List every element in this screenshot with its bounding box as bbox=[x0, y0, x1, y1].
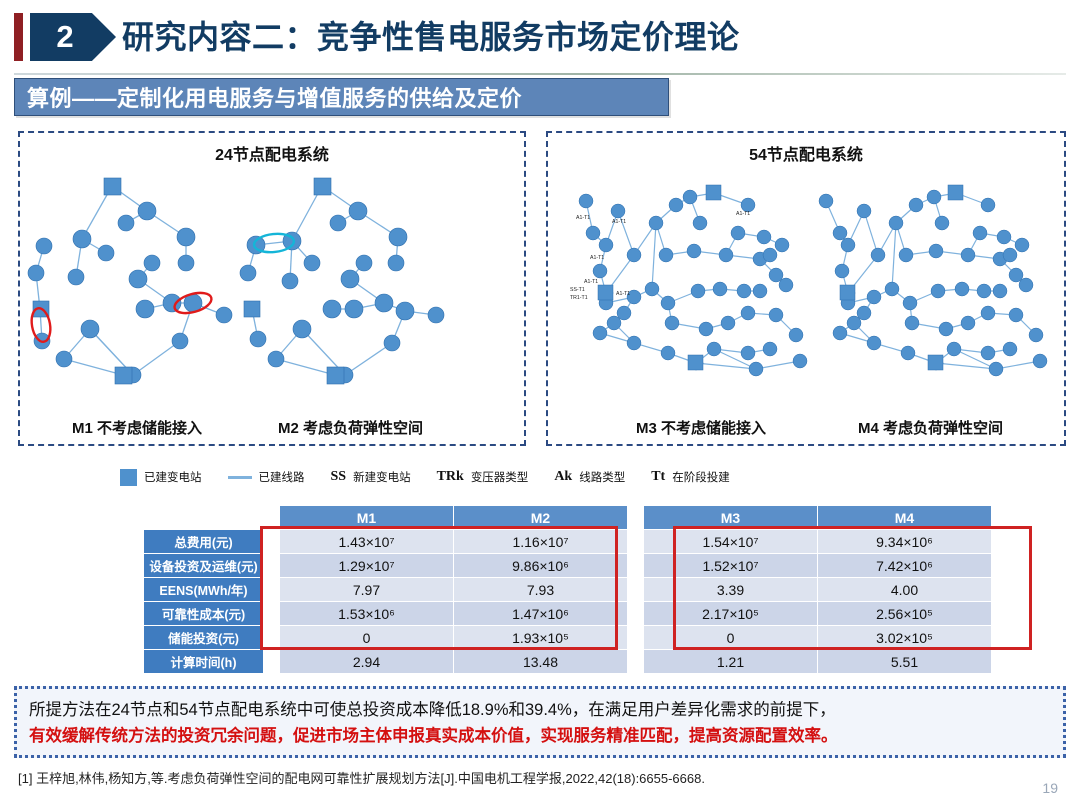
column-header-m4: M4 bbox=[818, 506, 992, 530]
legend-item-new-substation: SS 新建变电站 bbox=[331, 469, 411, 485]
trk-symbol: TRk bbox=[437, 469, 464, 485]
cell-m2-eens: 7.93 bbox=[454, 578, 628, 602]
slide-header: 2 研究内容二：竞争性售电服务市场定价理论 bbox=[0, 0, 1080, 72]
cell-m4-total-cost: 9.34×10⁶ bbox=[818, 530, 992, 554]
column-header-m1: M1 bbox=[280, 506, 454, 530]
cell-m3-total-cost: 1.54×10⁷ bbox=[644, 530, 818, 554]
table-gap-cell-mid bbox=[628, 506, 644, 530]
svg-text:A1-T1: A1-T1 bbox=[736, 211, 750, 217]
reference-citation: [1] 王梓旭,林伟,杨知方,等.考虑负荷弹性空间的配电网可靠性扩展规划方法[J… bbox=[18, 768, 705, 787]
svg-text:A1-T1: A1-T1 bbox=[612, 219, 626, 225]
cell-m4-compute-time: 5.51 bbox=[818, 650, 992, 674]
table-corner-cell bbox=[144, 506, 264, 530]
conclusion-line-2: 有效缓解传统方法的投资冗余问题，促进市场主体申报真实成本价值，实现服务精准匹配，… bbox=[29, 723, 1051, 749]
row-gap-mid bbox=[628, 650, 644, 674]
cell-m3-storage-invest: 0 bbox=[644, 626, 818, 650]
row-label-equipment-invest: 设备投资及运维(元) bbox=[144, 554, 264, 578]
conclusion-line-1: 所提方法在24节点和54节点配电系统中可使总投资成本降低18.9%和39.4%，… bbox=[29, 697, 1051, 723]
column-header-m2: M2 bbox=[454, 506, 628, 530]
row-gap bbox=[264, 530, 280, 554]
square-node-icon bbox=[120, 469, 137, 486]
panel-title-24node: 24节点配电系统 bbox=[20, 141, 524, 165]
table-row: EENS(MWh/年) 7.97 7.93 3.39 4.00 bbox=[144, 578, 992, 602]
network-graph-m3-m4: A1-T1 A1-T1 A1-T1 A1-T1 A1-T1 SS-T1 TR1-… bbox=[548, 163, 1064, 413]
legend-item-stage-build: Tt 在阶段投建 bbox=[651, 469, 730, 485]
legend-item-existing-substation: 已建变电站 bbox=[120, 469, 202, 486]
svg-text:A1-T1: A1-T1 bbox=[616, 291, 630, 297]
diagram-panel-24node: 24节点配电系统 bbox=[18, 131, 526, 446]
legend-label-existing-line: 已建线路 bbox=[259, 469, 305, 485]
cell-m2-total-cost: 1.16×10⁷ bbox=[454, 530, 628, 554]
cell-m1-compute-time: 2.94 bbox=[280, 650, 454, 674]
cell-m3-eens: 3.39 bbox=[644, 578, 818, 602]
table-gap-cell bbox=[264, 506, 280, 530]
table-row: 总费用(元) 1.43×10⁷ 1.16×10⁷ 1.54×10⁷ 9.34×1… bbox=[144, 530, 992, 554]
legend-item-line-type: Ak 线路类型 bbox=[554, 469, 625, 485]
legend-label-transformer-type: 变压器类型 bbox=[471, 469, 529, 485]
conclusion-box: 所提方法在24节点和54节点配电系统中可使总投资成本降低18.9%和39.4%，… bbox=[14, 686, 1066, 758]
cell-m4-eens: 4.00 bbox=[818, 578, 992, 602]
table-row: 设备投资及运维(元) 1.29×10⁷ 9.86×10⁶ 1.52×10⁷ 7.… bbox=[144, 554, 992, 578]
table-row: 储能投资(元) 0 1.93×10⁵ 0 3.02×10⁵ bbox=[144, 626, 992, 650]
row-label-storage-invest: 储能投资(元) bbox=[144, 626, 264, 650]
row-gap-mid bbox=[628, 578, 644, 602]
cell-m4-equipment-invest: 7.42×10⁶ bbox=[818, 554, 992, 578]
svg-text:A1-T1: A1-T1 bbox=[590, 255, 604, 261]
cell-m1-equipment-invest: 1.29×10⁷ bbox=[280, 554, 454, 578]
diagram-caption-m3: M3 不考虑储能接入 bbox=[636, 417, 766, 438]
header-red-accent-bar bbox=[14, 13, 23, 61]
cell-m4-reliability-cost: 2.56×10⁵ bbox=[818, 602, 992, 626]
header-divider bbox=[14, 73, 1066, 75]
cell-m1-storage-invest: 0 bbox=[280, 626, 454, 650]
subtitle-bar: 算例——定制化用电服务与增值服务的供给及定价 bbox=[14, 78, 669, 116]
cell-m2-reliability-cost: 1.47×10⁶ bbox=[454, 602, 628, 626]
diagram-panel-54node: 54节点配电系统 bbox=[546, 131, 1066, 446]
legend-item-existing-line: 已建线路 bbox=[228, 469, 305, 485]
column-header-m3: M3 bbox=[644, 506, 818, 530]
cell-m3-compute-time: 1.21 bbox=[644, 650, 818, 674]
cell-m2-compute-time: 13.48 bbox=[454, 650, 628, 674]
legend-item-transformer-type: TRk 变压器类型 bbox=[437, 469, 529, 485]
subtitle-text: 算例——定制化用电服务与增值服务的供给及定价 bbox=[15, 81, 522, 113]
cell-m4-storage-invest: 3.02×10⁵ bbox=[818, 626, 992, 650]
svg-text:TR1-T1: TR1-T1 bbox=[570, 295, 588, 301]
panel-title-54node: 54节点配电系统 bbox=[548, 141, 1064, 165]
legend-label-existing-substation: 已建变电站 bbox=[144, 469, 202, 485]
section-number-badge: 2 bbox=[30, 13, 116, 61]
table-header-row: M1 M2 M3 M4 bbox=[144, 506, 992, 530]
tt-symbol: Tt bbox=[651, 469, 665, 485]
diagram-caption-m2: M2 考虑负荷弹性空间 bbox=[278, 417, 423, 438]
page-number: 19 bbox=[1042, 780, 1058, 796]
cell-m2-equipment-invest: 9.86×10⁶ bbox=[454, 554, 628, 578]
row-gap bbox=[264, 578, 280, 602]
cell-m1-total-cost: 1.43×10⁷ bbox=[280, 530, 454, 554]
cell-m1-eens: 7.97 bbox=[280, 578, 454, 602]
line-icon bbox=[228, 476, 252, 479]
row-gap bbox=[264, 554, 280, 578]
cell-m2-storage-invest: 1.93×10⁵ bbox=[454, 626, 628, 650]
legend-label-line-type: 线路类型 bbox=[579, 469, 625, 485]
svg-text:SS-T1: SS-T1 bbox=[570, 287, 585, 293]
diagram-caption-m4: M4 考虑负荷弹性空间 bbox=[858, 417, 1003, 438]
row-label-compute-time: 计算时间(h) bbox=[144, 650, 264, 674]
network-graph-m1-m2 bbox=[20, 163, 524, 413]
page-title: 研究内容二：竞争性售电服务市场定价理论 bbox=[122, 14, 740, 60]
table-row: 计算时间(h) 2.94 13.48 1.21 5.51 bbox=[144, 650, 992, 674]
row-label-eens: EENS(MWh/年) bbox=[144, 578, 264, 602]
row-label-total-cost: 总费用(元) bbox=[144, 530, 264, 554]
cell-m3-equipment-invest: 1.52×10⁷ bbox=[644, 554, 818, 578]
row-gap bbox=[264, 626, 280, 650]
cell-m3-reliability-cost: 2.17×10⁵ bbox=[644, 602, 818, 626]
table-row: 可靠性成本(元) 1.53×10⁶ 1.47×10⁶ 2.17×10⁵ 2.56… bbox=[144, 602, 992, 626]
legend-label-new-substation: 新建变电站 bbox=[353, 469, 411, 485]
row-gap-mid bbox=[628, 554, 644, 578]
cell-m1-reliability-cost: 1.53×10⁶ bbox=[280, 602, 454, 626]
row-gap bbox=[264, 602, 280, 626]
diagram-caption-m1: M1 不考虑储能接入 bbox=[72, 417, 202, 438]
row-label-reliability-cost: 可靠性成本(元) bbox=[144, 602, 264, 626]
legend-label-stage-build: 在阶段投建 bbox=[672, 469, 730, 485]
row-gap-mid bbox=[628, 626, 644, 650]
diagram-legend: 已建变电站 已建线路 SS 新建变电站 TRk 变压器类型 Ak 线路类型 Tt… bbox=[120, 462, 960, 492]
ak-symbol: Ak bbox=[554, 469, 572, 485]
svg-text:A1-T1: A1-T1 bbox=[584, 279, 598, 285]
ss-symbol: SS bbox=[331, 469, 347, 485]
row-gap-mid bbox=[628, 602, 644, 626]
row-gap bbox=[264, 650, 280, 674]
results-table: M1 M2 M3 M4 总费用(元) 1.43×10⁷ 1.16×10⁷ 1.5… bbox=[143, 505, 992, 674]
row-gap-mid bbox=[628, 530, 644, 554]
svg-text:A1-T1: A1-T1 bbox=[576, 215, 590, 221]
